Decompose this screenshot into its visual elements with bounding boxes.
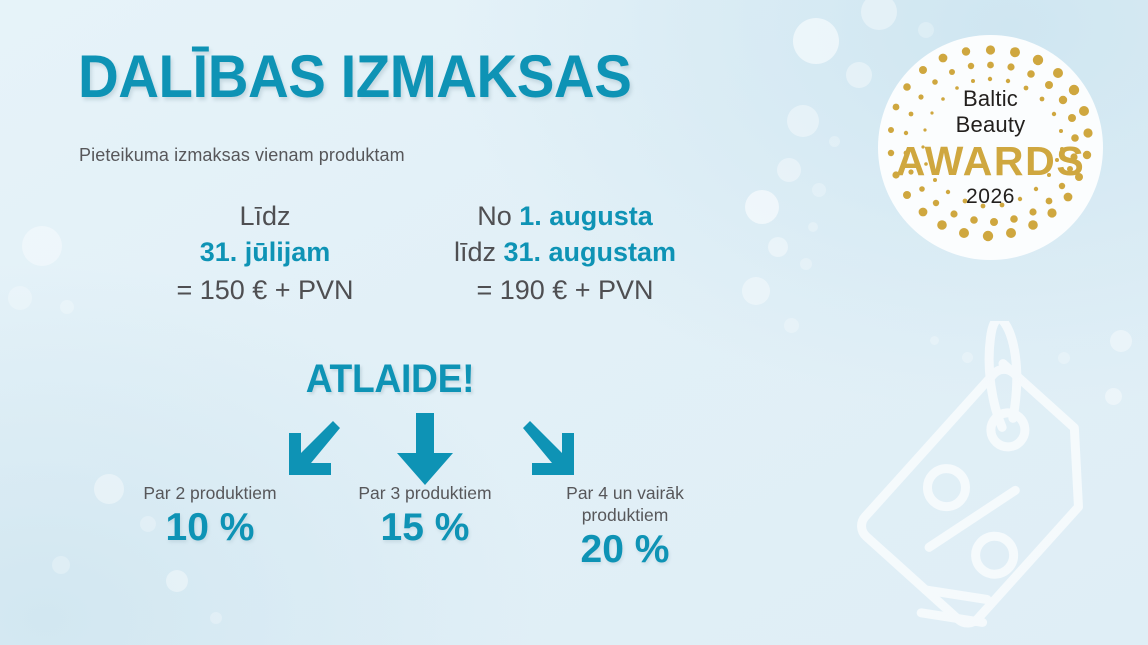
badge-text-group: Baltic Beauty AWARDS 2026 [878,35,1103,260]
price-tag-percent-icon [826,321,1148,645]
pricing-late-start-date: 1. augusta [519,201,653,231]
badge-line-baltic: Baltic [963,86,1018,112]
pricing-late-total: = 190 € + PVN [400,270,730,311]
tier-label: Par 4 un vairāk produktiem [525,483,725,527]
tier-percent: 20 % [525,528,725,572]
pricing-late-end-date: 31. augustam [503,237,676,267]
infographic-canvas: DALĪBAS IZMAKSAS Pieteikuma izmaksas vie… [0,0,1148,645]
discount-tier-2-products: Par 2 produktiem 10 % [105,483,315,550]
arrow-down-left-icon [283,420,345,482]
tier-label: Par 2 produktiem [105,483,315,505]
badge-awards-word: AWARDS [896,140,1086,183]
discount-tiers: Par 2 produktiem 10 % Par 3 produktiem 1… [0,483,780,603]
pricing-column-early: Līdz 31. jūlijam = 150 € + PVN [150,198,380,311]
badge-year: 2026 [966,185,1015,209]
arrow-down-icon [397,413,453,485]
pricing-early-total: = 150 € + PVN [150,270,380,311]
arrow-down-right-icon [518,420,580,482]
pricing-early-line2: 31. jūlijam [150,234,380,270]
baltic-beauty-awards-badge: Baltic Beauty AWARDS 2026 [878,35,1103,260]
discount-tier-4-plus-products: Par 4 un vairāk produktiem 20 % [525,483,725,571]
pricing-late-line1-prefix: No [477,201,519,231]
page-subtitle: Pieteikuma izmaksas vienam produktam [79,145,405,166]
tier-percent: 10 % [105,506,315,550]
pricing-early-deadline: 31. jūlijam [200,237,331,267]
tier-label: Par 3 produktiem [325,483,525,505]
pricing-column-late: No 1. augusta līdz 31. augustam = 190 € … [400,198,730,311]
pricing-late-line1: No 1. augusta [400,198,730,234]
discount-tier-3-products: Par 3 produktiem 15 % [325,483,525,550]
badge-line-beauty: Beauty [956,112,1026,138]
pricing-early-line1: Līdz [150,198,380,234]
tier-percent: 15 % [325,506,525,550]
discount-arrows [0,405,780,485]
page-title: DALĪBAS IZMAKSAS [78,47,631,107]
pricing-late-line2: līdz 31. augustam [400,234,730,270]
pricing-late-line2-prefix: līdz [454,237,504,267]
discount-heading: ATLAIDE! [27,357,752,402]
